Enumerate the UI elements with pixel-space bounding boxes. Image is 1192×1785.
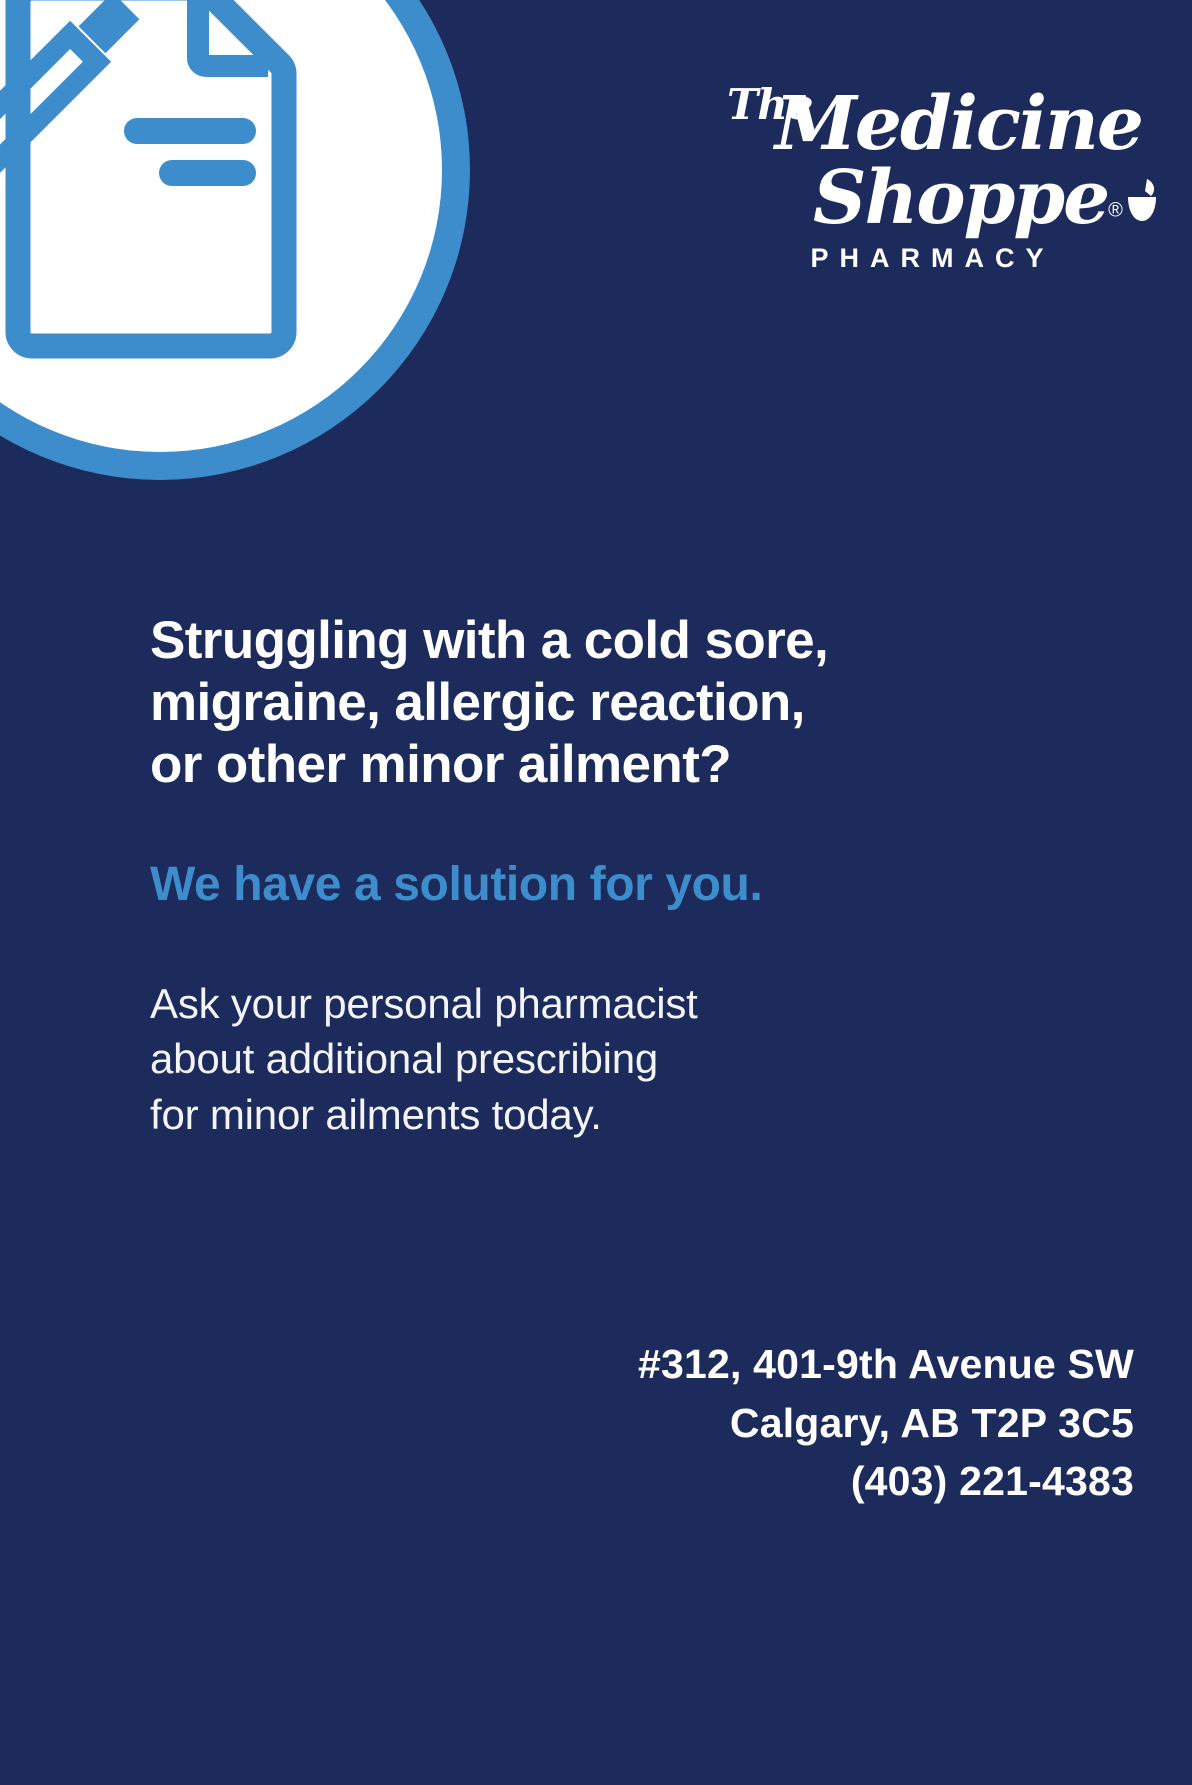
logo-the: The (727, 84, 813, 126)
headline-line-1: Struggling with a cold sore, (150, 610, 1050, 672)
headline-line-3: or other minor ailment? (150, 734, 1050, 796)
subheadline: We have a solution for you. (150, 796, 1050, 914)
logo-shoppe: Shoppe (813, 155, 1108, 241)
body-copy: Ask your personal pharmacist about addit… (150, 914, 1050, 1144)
mortar-and-pestle-icon (1125, 177, 1159, 229)
body-line-2: about additional prescribing (150, 1031, 1050, 1087)
headline-line-2: migraine, allergic reaction, (150, 672, 1050, 734)
copy-block: Struggling with a cold sore, migraine, a… (150, 610, 1050, 1143)
body-line-1: Ask your personal pharmacist (150, 976, 1050, 1032)
logo-shoppe-row: Shoppe® (717, 161, 1137, 235)
phone-number[interactable]: (403) 221-4383 (638, 1452, 1134, 1510)
registered-mark-icon: ® (1108, 199, 1123, 221)
address-street: #312, 401-9th Avenue SW (638, 1335, 1134, 1393)
poster-canvas: The Medicine Shoppe® PHARMACY Struggling… (0, 0, 1192, 1785)
body-line-3: for minor ailments today. (150, 1087, 1050, 1143)
logo-script: The Medicine Shoppe® (717, 88, 1137, 235)
document-pencil-icon (0, 0, 360, 370)
brand-logo: The Medicine Shoppe® PHARMACY (717, 88, 1137, 274)
address-city: Calgary, AB T2P 3C5 (638, 1394, 1134, 1452)
contact-block: #312, 401-9th Avenue SW Calgary, AB T2P … (638, 1335, 1134, 1510)
logo-tagline: PHARMACY (717, 243, 1137, 274)
headline: Struggling with a cold sore, migraine, a… (150, 610, 1050, 796)
badge-emblem (0, 0, 470, 480)
